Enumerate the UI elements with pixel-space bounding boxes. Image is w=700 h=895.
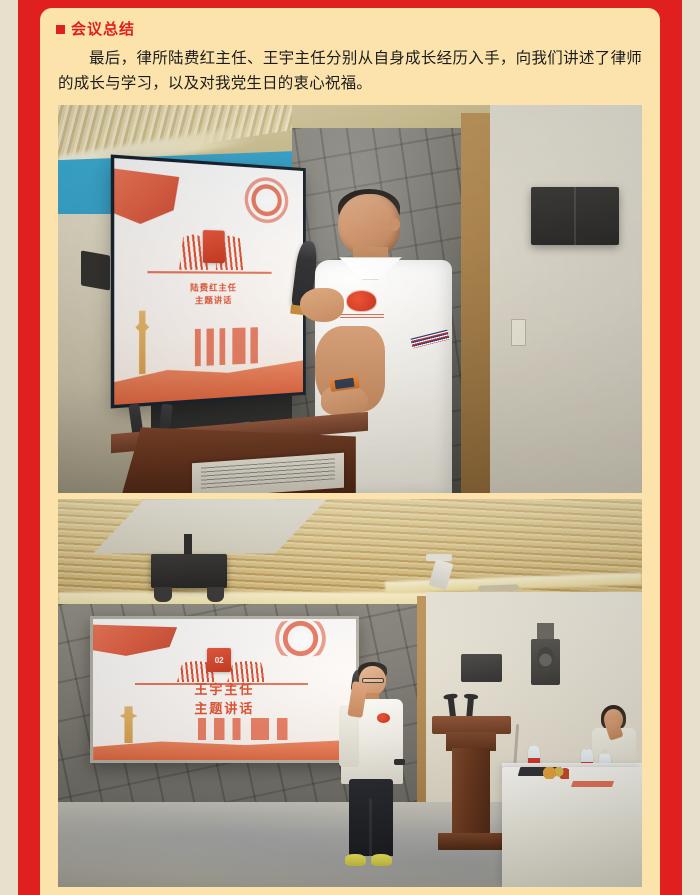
wall-speaker-small xyxy=(461,654,502,681)
speaker-hand-holding-mic xyxy=(300,288,344,323)
podium-base xyxy=(438,833,505,850)
slide-divider xyxy=(148,271,273,274)
photo-lufeihong[interactable]: 陆费红主任 主题讲话 xyxy=(58,105,642,493)
skyline-graphic xyxy=(93,718,356,741)
eyeglasses xyxy=(362,678,384,683)
red-document xyxy=(571,781,614,787)
square-bullet-icon xyxy=(56,25,65,34)
projector-foot-left xyxy=(154,587,172,603)
ceiling-vent xyxy=(478,584,519,592)
red-frame-left xyxy=(18,0,40,895)
slide-title: 陆费红主任 主题讲话 xyxy=(115,282,304,310)
wall-lamp xyxy=(531,187,619,245)
red-frame-right xyxy=(660,0,682,895)
page-background: 会议总结 最后，律所陆费红主任、王宇主任分别从自身成长经历入手，向我们讲述了律师… xyxy=(0,0,700,895)
photo-wangyu[interactable]: 02 王宇主任 主题讲话 xyxy=(58,499,642,887)
wristwatch xyxy=(394,759,405,765)
speaker-ear xyxy=(388,218,400,231)
speaker-shoe-left xyxy=(345,854,366,866)
content-card: 会议总结 最后，律所陆费红主任、王宇主任分别从自身成长经历入手，向我们讲述了律师… xyxy=(40,8,660,895)
wood-column xyxy=(461,113,493,493)
wall-speaker-tall xyxy=(531,639,560,686)
podium-column xyxy=(452,748,490,841)
emblem-halo-graphic xyxy=(256,620,345,657)
skyline-graphic xyxy=(115,326,304,371)
emblem-halo-graphic xyxy=(236,169,296,231)
section-header: 会议总结 xyxy=(56,22,660,37)
right-wall xyxy=(490,105,642,493)
page-title: 会议总结 xyxy=(71,22,135,37)
photo-gallery: 陆费红主任 主题讲话 xyxy=(58,105,642,887)
flower-arrangement xyxy=(543,767,569,779)
anniversary-logo-icon xyxy=(347,291,376,310)
projector-foot-right xyxy=(207,587,225,603)
speaker-trousers xyxy=(349,779,393,857)
section-paragraph: 最后，律所陆费红主任、王宇主任分别从自身成长经历入手，向我们讲述了律师的成长与学… xyxy=(58,46,642,96)
red-flag-graphic xyxy=(90,624,177,661)
slide-number-badge xyxy=(203,230,226,263)
projection-screen: 陆费红主任 主题讲话 xyxy=(115,158,304,405)
ceiling-projector xyxy=(151,554,227,589)
slide-number-badge: 02 xyxy=(207,648,231,672)
red-flag-graphic xyxy=(115,168,180,235)
speaker-shoe-right xyxy=(371,854,392,866)
wall-speaker-left xyxy=(81,250,110,290)
wall-switch xyxy=(511,319,526,346)
projection-screen: 02 王宇主任 主题讲话 xyxy=(90,616,359,763)
anniversary-logo-icon xyxy=(377,713,390,723)
